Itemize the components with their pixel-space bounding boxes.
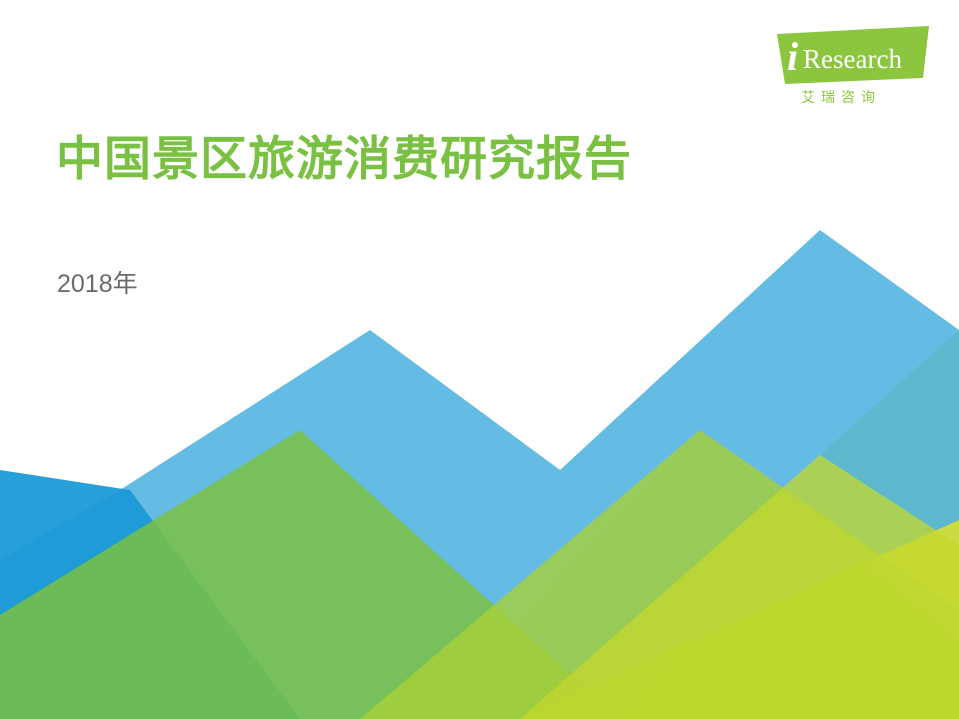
slide-canvas: i Research 艾瑞咨询 中国景区旅游消费研究报告 2018年 — [0, 0, 959, 719]
logo-wordmark-i: i — [787, 34, 798, 79]
page-subtitle-year: 2018年 — [57, 264, 138, 300]
iresearch-logo: i Research 艾瑞咨询 — [773, 26, 933, 110]
logo-wordmark-rest: Research — [803, 44, 902, 74]
page-title: 中国景区旅游消费研究报告 — [56, 120, 632, 189]
logo-chinese-name: 艾瑞咨询 — [801, 89, 881, 105]
